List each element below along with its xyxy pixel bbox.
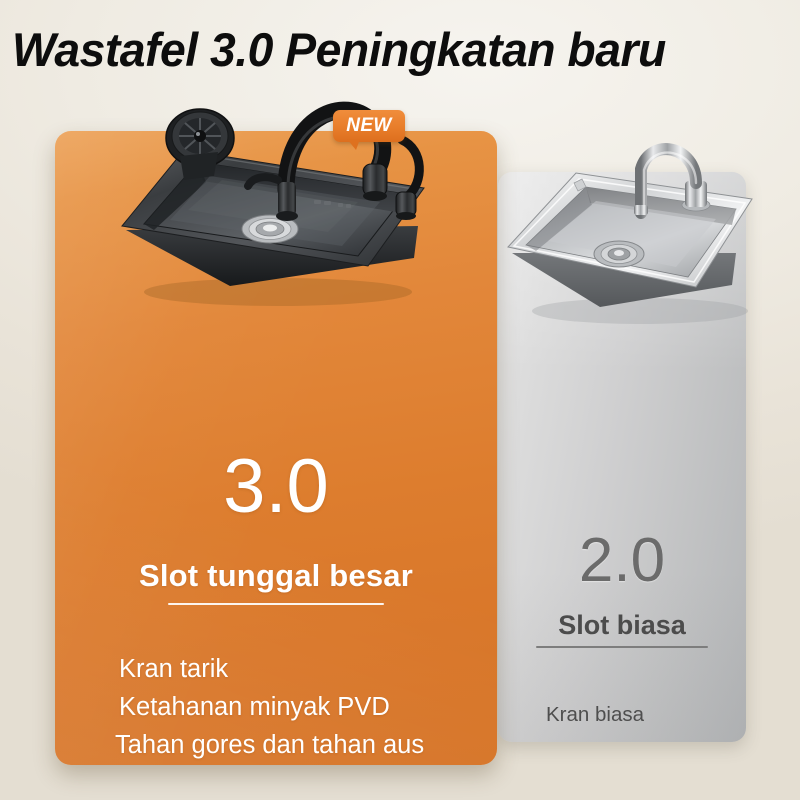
feature-list-3: Kran tarik Ketahanan minyak PVD Tahan go… xyxy=(55,650,497,765)
subtitle-3: Slot tunggal besar xyxy=(55,558,497,594)
feature-list-2: Kran biasa Adhesi bebas minyak Mudah dip… xyxy=(498,693,746,742)
list-item: Ketahanan minyak PVD xyxy=(119,688,497,726)
badge-label: NEW xyxy=(333,110,405,142)
subtitle-2: Slot biasa xyxy=(498,610,746,641)
subtitle-underline-3 xyxy=(168,603,384,605)
new-badge: NEW xyxy=(333,110,405,146)
list-item: Adhesi bebas minyak xyxy=(546,736,746,742)
sink-image-silver xyxy=(500,135,772,330)
list-item: Kran biasa xyxy=(546,693,746,736)
list-item: Tahan gores dan tahan aus xyxy=(115,726,497,764)
list-item: Beberapa metode instalasi xyxy=(123,764,497,765)
product-comparison-poster: 2.0 Slot biasa Kran biasa Adhesi bebas m… xyxy=(0,0,800,800)
version-label-2: 2.0 xyxy=(498,530,746,592)
page-title: Wastafel 3.0 Peningkatan baru xyxy=(12,22,790,77)
version-label-3: 3.0 xyxy=(55,449,497,525)
subtitle-underline-2 xyxy=(536,646,708,648)
list-item: Kran tarik xyxy=(119,650,497,688)
